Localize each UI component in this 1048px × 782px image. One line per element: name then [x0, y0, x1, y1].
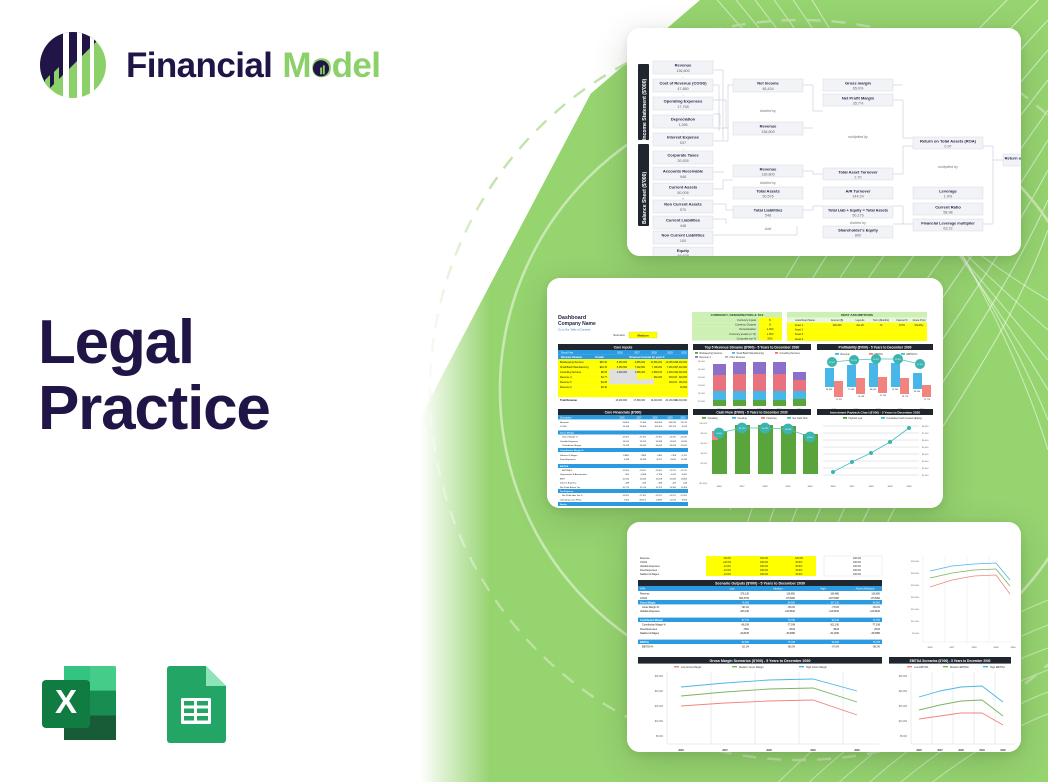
- svg-text:$5,000: $5,000: [656, 736, 664, 738]
- svg-text:$4,000: $4,000: [701, 453, 708, 455]
- svg-text:-113,9610: -113,9610: [869, 610, 880, 613]
- svg-text:-113,9610: -113,9610: [784, 610, 795, 613]
- svg-text:Core Financials ($'000): Core Financials ($'000): [605, 410, 642, 414]
- svg-text:Other Revenue: Other Revenue: [730, 356, 746, 359]
- svg-text:-62.1%: -62.1%: [741, 645, 749, 648]
- svg-text:Interest Expense: Interest Expense: [667, 135, 700, 140]
- svg-text:-65.0%: -65.0%: [622, 437, 629, 439]
- svg-text:$10,000: $10,000: [699, 423, 707, 425]
- svg-text:11,454: 11,454: [681, 487, 688, 489]
- svg-text:1.000: 1.000: [767, 332, 774, 336]
- svg-text:100.0%: 100.0%: [853, 569, 862, 572]
- svg-text:Interest %: Interest %: [896, 319, 908, 322]
- svg-text:2026: 2026: [617, 351, 623, 354]
- svg-text:$15,000: $15,000: [899, 706, 908, 708]
- svg-text:-65.0%: -65.0%: [872, 606, 880, 609]
- svg-text:2027: 2027: [850, 486, 856, 488]
- svg-text:Depreciation & Amortisation: Depreciation & Amortisation: [560, 473, 588, 476]
- svg-text:$5,000: $5,000: [698, 369, 705, 371]
- node-revenue-2: Revenue136,800: [733, 122, 803, 135]
- svg-text:2029: 2029: [888, 486, 894, 488]
- svg-text:Consulting Services: Consulting Services: [780, 352, 801, 355]
- panel-debt-assumptions: DEBT ASSUMPTIONS Loan/Grant NameAmount (…: [787, 312, 927, 341]
- svg-text:Monthly: Monthly: [915, 324, 925, 327]
- svg-text:15,040: 15,040: [640, 478, 647, 480]
- svg-text:Corporate tax %: Corporate tax %: [737, 336, 757, 340]
- svg-text:Cash Flow ($'000) - 5 Years to: Cash Flow ($'000) - 5 Years to December …: [716, 410, 787, 414]
- svg-text:136,800: 136,800: [871, 593, 880, 596]
- dupont-diagram: Income Statement ($'000) Balance Sheet (…: [627, 28, 1021, 256]
- svg-text:-15,8080: -15,8080: [871, 632, 881, 635]
- svg-text:47,880: 47,880: [677, 87, 688, 91]
- node-total-assets: Total Assets50,576: [733, 187, 803, 199]
- svg-text:Revenue 4: Revenue 4: [700, 357, 712, 359]
- svg-text:10,649: 10,649: [785, 429, 792, 431]
- svg-text:160,010: 160,010: [679, 382, 688, 384]
- svg-text:$25,000: $25,000: [899, 676, 908, 678]
- svg-text:7,402: 7,402: [624, 499, 630, 501]
- svg-text:136,800: 136,800: [761, 173, 774, 177]
- svg-text:Bookkeeping Services: Bookkeeping Services: [700, 352, 724, 355]
- svg-text:$15,000: $15,000: [655, 706, 664, 708]
- svg-text:EBITDA: EBITDA: [640, 641, 649, 644]
- brand-word-financial: Financial: [126, 48, 272, 83]
- svg-text:2026: 2026: [928, 647, 934, 649]
- svg-text:10011: 10011: [670, 459, 676, 461]
- svg-text:-18.7%: -18.7%: [655, 495, 662, 497]
- dashboard-screenshot[interactable]: Dashboard Company Name Go to Doc Table o…: [547, 278, 943, 508]
- svg-text:($2,000): ($2,000): [699, 483, 707, 485]
- svg-text:2027: 2027: [950, 647, 956, 649]
- svg-text:-22.7%: -22.7%: [680, 470, 687, 472]
- svg-text:10,175: 10,175: [623, 487, 630, 489]
- svg-text:Tax Expense: Tax Expense: [560, 491, 574, 493]
- svg-text:65.0%: 65.0%: [853, 87, 864, 91]
- svg-text:8.0%: 8.0%: [899, 324, 905, 327]
- svg-text:2027: 2027: [937, 749, 943, 752]
- svg-text:Net Profit Before Tax: Net Profit Before Tax: [560, 486, 581, 489]
- node-depreciation: Depreciation1,265: [653, 115, 713, 128]
- section-label-income-statement: Income Statement ($'000): [642, 78, 648, 140]
- svg-text:Fixed Expenses: Fixed Expenses: [560, 459, 576, 461]
- svg-text:-87,8000: -87,8000: [786, 597, 796, 600]
- node-ar-turnover: A/R Turnover144.24: [823, 187, 893, 199]
- svg-text:100.0%: 100.0%: [760, 557, 769, 560]
- svg-text:-8013: -8013: [874, 628, 881, 631]
- svg-text:EBITDA %: EBITDA %: [642, 645, 654, 648]
- operator-divided-by: divided by: [760, 109, 776, 113]
- svg-text:318,100: 318,100: [669, 377, 678, 379]
- svg-text:Investment Payback Chart ($'00: Investment Payback Chart ($'000) - 5 Yea…: [830, 410, 920, 414]
- svg-text:8,019: 8,019: [682, 426, 688, 428]
- svg-text:2030: 2030: [854, 749, 860, 752]
- svg-text:Medium Gross Margin: Medium Gross Margin: [739, 666, 764, 669]
- svg-text:Variable Expenses: Variable Expenses: [560, 440, 579, 443]
- svg-text:196,880: 196,880: [830, 593, 839, 596]
- svg-text:2026: 2026: [831, 486, 837, 488]
- svg-text:Revenue 4: Revenue 4: [560, 376, 572, 379]
- svg-text:100.0%: 100.0%: [760, 573, 769, 576]
- node-revenue-3: Revenue136,800: [733, 165, 803, 177]
- svg-text:4,095,400: 4,095,400: [635, 372, 646, 374]
- node-current-ratio: Current Ratio58.98: [913, 203, 983, 215]
- svg-text:Contribution Margin %: Contribution Margin %: [642, 623, 667, 626]
- svg-text:Go to Doc Table of Contents: Go to Doc Table of Contents: [558, 328, 591, 332]
- svg-text:$20,000: $20,000: [899, 691, 908, 693]
- svg-text:Fixed Expenses: Fixed Expenses: [640, 569, 658, 572]
- svg-text:-87,8000: -87,8000: [871, 597, 881, 600]
- svg-text:COGS: COGS: [640, 561, 647, 564]
- dupont-analysis-screenshot[interactable]: Income Statement ($'000) Balance Sheet (…: [627, 28, 1021, 256]
- svg-text:2028: 2028: [869, 486, 875, 488]
- svg-text:Net Profit Margin: Net Profit Margin: [842, 95, 875, 100]
- svg-text:93,830: 93,830: [832, 641, 840, 644]
- svg-text:$25,000: $25,000: [911, 585, 920, 587]
- svg-text:Net Profit after Tax %: Net Profit after Tax %: [562, 494, 583, 497]
- svg-text:26,984: 26,984: [640, 426, 647, 428]
- svg-text:$8,000: $8,000: [922, 426, 929, 428]
- svg-text:76,750: 76,750: [788, 619, 796, 622]
- svg-text:$3,000: $3,000: [922, 461, 929, 463]
- svg-text:0.97: 0.97: [944, 145, 951, 149]
- svg-text:12,902: 12,902: [670, 441, 677, 443]
- node-shareholders-equity: Shareholder's Equity800: [823, 226, 893, 238]
- microsoft-excel-icon[interactable]: X: [36, 660, 122, 746]
- svg-text:Small Batch Manufacturing: Small Batch Manufacturing: [560, 366, 589, 369]
- svg-text:36,445: 36,445: [656, 445, 663, 447]
- svg-text:2029: 2029: [786, 486, 792, 488]
- svg-text:13,288: 13,288: [640, 459, 647, 461]
- svg-text:Cumulative Cash Invested (Equi: Cumulative Cash Invested (Equity): [887, 417, 923, 420]
- svg-text:Scenario: Scenario: [613, 333, 625, 337]
- svg-text:100,000: 100,000: [832, 324, 842, 327]
- svg-text:90,130: 90,130: [832, 619, 840, 622]
- svg-text:88,800: 88,800: [788, 601, 796, 604]
- svg-text:28,816: 28,816: [670, 445, 677, 447]
- svg-text:Gross Margin %: Gross Margin %: [562, 436, 578, 439]
- svg-text:-15,8080: -15,8080: [786, 632, 796, 635]
- svg-text:11,849: 11,849: [681, 441, 688, 443]
- svg-text:8013.2: 8013.2: [640, 499, 647, 501]
- svg-text:77,980: 77,980: [640, 422, 647, 424]
- svg-text:Payback year: Payback year: [849, 417, 863, 420]
- svg-text:Contribution Margin %: Contribution Margin %: [560, 449, 584, 452]
- svg-text:2030: 2030: [907, 486, 913, 488]
- svg-text:Contribution Margin: Contribution Margin: [562, 444, 582, 447]
- svg-text:50,176: 50,176: [852, 214, 863, 218]
- svg-text:39,039: 39,039: [640, 445, 647, 447]
- svg-text:11,702: 11,702: [836, 399, 843, 401]
- svg-text:576,130: 576,130: [740, 593, 749, 596]
- svg-text:8,966: 8,966: [682, 499, 688, 501]
- svg-text:-17.6%: -17.6%: [639, 495, 646, 497]
- svg-text:$4,000: $4,000: [922, 454, 929, 456]
- svg-text:23,128: 23,128: [623, 445, 630, 447]
- svg-text:Net Cash Flow: Net Cash Flow: [793, 417, 808, 420]
- svg-text:EBITDA Scenarios ($'000) - 5 Y: EBITDA Scenarios ($'000) - 5 Years to De…: [910, 659, 991, 663]
- svg-text:100.0%: 100.0%: [760, 561, 769, 564]
- svg-text:Low Gross Margin: Low Gross Margin: [681, 666, 702, 669]
- svg-text:Investing: Investing: [738, 417, 748, 420]
- svg-text:Variable Expenses: Variable Expenses: [640, 610, 661, 613]
- svg-text:$1,000: $1,000: [922, 475, 929, 477]
- svg-text:COGS: COGS: [560, 426, 567, 428]
- svg-text:Fixed Expenses: Fixed Expenses: [640, 628, 658, 631]
- svg-text:Total Revenue: Total Revenue: [560, 399, 578, 402]
- svg-text:Equity: Equity: [560, 503, 567, 506]
- svg-text:$5,000: $5,000: [900, 736, 908, 738]
- svg-text:2030: 2030: [808, 486, 814, 488]
- svg-text:-58.1%: -58.1%: [741, 606, 749, 609]
- svg-text:2029: 2029: [810, 749, 816, 752]
- node-total-liab-equity: Total Liab + Equity = Total Assets50,176: [823, 206, 893, 218]
- svg-text:100.0%: 100.0%: [853, 573, 862, 576]
- svg-text:2027: 2027: [722, 749, 728, 752]
- svg-text:76,750: 76,750: [873, 619, 881, 622]
- svg-text:5,350,000: 5,350,000: [617, 367, 628, 369]
- svg-text:12,776: 12,776: [924, 399, 931, 401]
- svg-text:-20.1%: -20.1%: [639, 470, 646, 472]
- svg-text:100.0%: 100.0%: [853, 561, 862, 564]
- svg-text:divided by: divided by: [760, 181, 776, 185]
- svg-text:Net Income: Net Income: [757, 81, 779, 86]
- svg-text:-25.0%: -25.0%: [622, 470, 629, 472]
- google-sheets-icon[interactable]: [152, 660, 238, 746]
- svg-text:2030: 2030: [1000, 749, 1006, 752]
- svg-text:382,3792: 382,3792: [739, 597, 750, 600]
- svg-text:Growth: Growth: [595, 356, 604, 359]
- svg-text:-67.0%: -67.0%: [639, 437, 646, 439]
- node-leverage: Leverage1.9%: [913, 187, 983, 199]
- svg-text:Shareholder's Equity: Shareholder's Equity: [838, 227, 879, 232]
- svg-text:148,100: 148,100: [669, 382, 678, 384]
- svg-text:21,140: 21,140: [880, 395, 887, 397]
- svg-text:8,044: 8,044: [716, 433, 722, 435]
- node-accounts-receivable: Accounts Receivable948: [653, 167, 713, 180]
- svg-text:30%: 30%: [767, 336, 773, 340]
- scenario-analysis-screenshot[interactable]: RevenueCOGS Variable ExpensesFixed Expen…: [627, 522, 1021, 752]
- node-interest-expense: Interest Expense537: [653, 133, 713, 146]
- svg-text:104,200: 104,200: [654, 426, 662, 428]
- node-gross-margin: Gross margin65.0%: [823, 79, 893, 91]
- svg-text:2029: 2029: [979, 749, 985, 752]
- svg-text:-32.0%: -32.0%: [655, 470, 662, 472]
- svg-text:20,926: 20,926: [677, 159, 688, 163]
- brand-wordmark: Financial M o del: [126, 48, 380, 83]
- node-non-current-liabilities: Non Current Liabilities100: [653, 231, 713, 244]
- svg-text:Revenue: Revenue: [640, 593, 650, 596]
- svg-text:Salaries & Wages: Salaries & Wages: [560, 454, 578, 457]
- node-net-profit-margin: Net Profit Margin35.7%: [823, 94, 893, 106]
- node-opex: Operating Expenses17,758: [653, 97, 713, 110]
- svg-text:4,002,000: 4,002,000: [617, 372, 628, 374]
- svg-text:Salaries & Wages: Salaries & Wages: [640, 632, 660, 635]
- svg-text:Cost of Revenue (COGS): Cost of Revenue (COGS): [659, 81, 707, 86]
- svg-text:Total Assets: Total Assets: [756, 188, 780, 193]
- svg-text:$2,000: $2,000: [698, 393, 705, 395]
- svg-text:Profitability ($'000) - 5 Year: Profitability ($'000) - 5 Years to Decem…: [839, 345, 912, 349]
- svg-text:136,800: 136,800: [676, 69, 689, 73]
- svg-text:-67.6%: -67.6%: [655, 437, 662, 439]
- svg-text:Bookkeeping Services: Bookkeeping Services: [560, 361, 584, 364]
- svg-text:-77,198: -77,198: [872, 623, 881, 626]
- svg-text:Non Current Assets: Non Current Assets: [664, 202, 702, 207]
- svg-text:302,200: 302,200: [654, 377, 663, 379]
- svg-text:75,708: 75,708: [873, 641, 881, 644]
- svg-text:7,108,200: 7,108,200: [652, 367, 663, 369]
- svg-text:90.0%: 90.0%: [796, 573, 804, 576]
- svg-text:Operating: Operating: [708, 417, 719, 420]
- svg-text:Gross Margin: Gross Margin: [640, 601, 656, 604]
- svg-text:-10.0%: -10.0%: [723, 569, 731, 572]
- svg-text:High: High: [820, 587, 826, 591]
- svg-text:50,576: 50,576: [762, 195, 773, 199]
- svg-text:-1,088: -1,088: [640, 474, 647, 476]
- svg-text:120.0%: 120.0%: [795, 557, 804, 560]
- svg-text:-1,891: -1,891: [681, 474, 688, 476]
- svg-text:100.0%: 100.0%: [760, 565, 769, 568]
- svg-text:-15.3%: -15.3%: [680, 495, 687, 497]
- svg-text:90.0%: 90.0%: [796, 569, 804, 572]
- supported-formats: X: [36, 660, 238, 746]
- svg-text:4,320,000: 4,320,000: [677, 372, 688, 374]
- svg-text:13881: 13881: [623, 455, 630, 457]
- svg-text:Top 5 Revenue Streams ($'000): Top 5 Revenue Streams ($'000) - 5 Years …: [705, 345, 800, 349]
- svg-text:56,800: 56,800: [623, 422, 630, 424]
- node-financial-leverage-multiplier: Financial Leverage multiplier63.22: [913, 219, 983, 231]
- svg-text:80.0%: 80.0%: [796, 565, 804, 568]
- svg-text:537: 537: [680, 141, 686, 145]
- svg-text:Accounts Receivable: Accounts Receivable: [663, 169, 704, 174]
- svg-text:Operating Expenses: Operating Expenses: [664, 99, 703, 104]
- svg-text:10,836,200: 10,836,200: [651, 362, 663, 364]
- svg-text:EBITDA %: EBITDA %: [907, 353, 918, 356]
- svg-text:Gross Margin %: Gross Margin %: [642, 606, 660, 609]
- svg-text:$25,000: $25,000: [655, 676, 664, 678]
- svg-text:136,800: 136,800: [786, 593, 795, 596]
- svg-text:52,805: 52,805: [742, 641, 750, 644]
- svg-text:High Gross Margin: High Gross Margin: [806, 666, 827, 669]
- svg-text:Asset 1: Asset 1: [795, 324, 804, 327]
- svg-text:$8.25: $8.25: [601, 371, 608, 374]
- svg-text:Small Batch Manufacturing: Small Batch Manufacturing: [737, 352, 765, 355]
- svg-text:2030: 2030: [681, 351, 687, 354]
- svg-text:DEBT ASSUMPTIONS: DEBT ASSUMPTIONS: [841, 313, 873, 317]
- svg-text:Gross margin: Gross margin: [845, 80, 872, 85]
- svg-text:$15,000: $15,000: [911, 609, 920, 611]
- svg-text:EBITDA %: EBITDA %: [562, 469, 572, 472]
- svg-text:10699: 10699: [656, 499, 663, 501]
- svg-text:$4.77: $4.77: [601, 376, 608, 379]
- svg-text:$10,000: $10,000: [899, 721, 908, 723]
- svg-text:$22.15: $22.15: [600, 366, 608, 369]
- dashboard-content: Dashboard Company Name Go to Doc Table o…: [547, 278, 943, 508]
- svg-text:2028: 2028: [763, 486, 769, 488]
- svg-text:17,800,000: 17,800,000: [634, 400, 646, 402]
- svg-text:9,288: 9,288: [624, 459, 630, 461]
- operator-multiplied-by: multiplied by: [848, 135, 868, 139]
- page-title: Legal Practice: [38, 310, 270, 441]
- svg-text:2028: 2028: [972, 647, 978, 649]
- svg-text:-73.0%: -73.0%: [831, 606, 839, 609]
- svg-text:Depreciation: Depreciation: [671, 117, 696, 122]
- brand-word-m: M: [282, 48, 311, 83]
- svg-text:15,285: 15,285: [670, 478, 677, 480]
- svg-text:Financial Leverage multiplier: Financial Leverage multiplier: [921, 220, 975, 225]
- svg-text:-5,701: -5,701: [681, 455, 688, 457]
- svg-text:Interest Expense: Interest Expense: [560, 482, 577, 485]
- svg-text:$20,000: $20,000: [655, 691, 664, 693]
- svg-text:Total Liabilities: Total Liabilities: [754, 207, 784, 212]
- svg-text:18,776: 18,776: [902, 396, 909, 398]
- svg-text:-65.0%: -65.0%: [680, 437, 687, 439]
- svg-text:Revenue 5: Revenue 5: [560, 381, 572, 384]
- svg-text:800: 800: [855, 234, 861, 238]
- svg-text:$2.40: $2.40: [601, 386, 608, 389]
- svg-text:Total Liab + Equity = Total As: Total Liab + Equity = Total Assets: [828, 208, 888, 212]
- svg-text:Currency Inputs: Currency Inputs: [737, 318, 757, 322]
- svg-text:EBITDA: EBITDA: [560, 465, 569, 468]
- svg-text:Description: Description: [560, 416, 572, 419]
- svg-text:$3.28: $3.28: [601, 381, 608, 384]
- svg-text:136,535: 136,535: [668, 422, 676, 424]
- svg-text:187,100: 187,100: [830, 601, 839, 604]
- svg-text:KPIs: KPIs: [640, 587, 646, 591]
- node-roe: Return on Equity (ROE)61.23: [1003, 154, 1021, 166]
- svg-text:Company Name: Company Name: [558, 321, 596, 327]
- svg-text:8,200,000: 8,200,000: [677, 362, 688, 364]
- svg-text:Revenue: Revenue: [640, 557, 650, 560]
- svg-text:4,538,100: 4,538,100: [652, 372, 663, 374]
- node-revenue: Revenue136,800: [653, 61, 713, 74]
- svg-text:Gross Margin: Gross Margin: [560, 432, 575, 434]
- svg-text:100.0%: 100.0%: [853, 565, 862, 568]
- svg-text:2.70: 2.70: [854, 176, 861, 180]
- brand-word-del: del: [332, 48, 381, 83]
- brand-logo[interactable]: Financial M o del: [36, 28, 380, 102]
- svg-text:-16,8430: -16,8430: [740, 632, 750, 635]
- svg-text:Medium EBITDA: Medium EBITDA: [950, 666, 969, 669]
- svg-text:$6,000: $6,000: [701, 443, 708, 445]
- svg-text:Gross Margin Scenarios ($'000): Gross Margin Scenarios ($'000) - 5 Years…: [709, 659, 810, 663]
- svg-text:2026: 2026: [916, 749, 922, 752]
- svg-text:$6,000: $6,000: [698, 361, 705, 363]
- svg-text:-77,198: -77,198: [787, 623, 796, 626]
- panel-currency-denomination-tax: CURRENCY, DENOMINATION & TAX Currency In…: [692, 312, 782, 341]
- svg-text:$7,000: $7,000: [922, 433, 929, 435]
- svg-text:-10.0%: -10.0%: [723, 573, 731, 576]
- svg-text:$3,000: $3,000: [698, 385, 705, 387]
- svg-text:35.1%: 35.1%: [851, 360, 857, 362]
- svg-text:-65.0%: -65.0%: [787, 606, 795, 609]
- svg-text:Consulting Services: Consulting Services: [560, 371, 582, 374]
- svg-text:2026: 2026: [678, 749, 684, 752]
- svg-text:948: 948: [680, 175, 686, 179]
- svg-text:16,000: 16,000: [680, 387, 688, 389]
- svg-text:1,265: 1,265: [678, 123, 687, 127]
- svg-text:Active (Medium): Active (Medium): [856, 587, 875, 591]
- svg-text:11,075: 11,075: [670, 499, 677, 501]
- pie-chart-icon: [313, 60, 330, 77]
- svg-text:56,800: 56,800: [826, 389, 833, 391]
- svg-text:100: 100: [680, 239, 686, 243]
- svg-text:$35,000: $35,000: [911, 561, 920, 563]
- svg-text:Variable Expenses: Variable Expenses: [640, 565, 661, 568]
- section-label-balance-sheet: Balance Sheet ($'000): [642, 172, 648, 224]
- svg-text:Contribution Margin: Contribution Margin: [640, 619, 663, 622]
- svg-text:+20.0%: +20.0%: [723, 561, 732, 564]
- svg-text:548: 548: [765, 214, 771, 218]
